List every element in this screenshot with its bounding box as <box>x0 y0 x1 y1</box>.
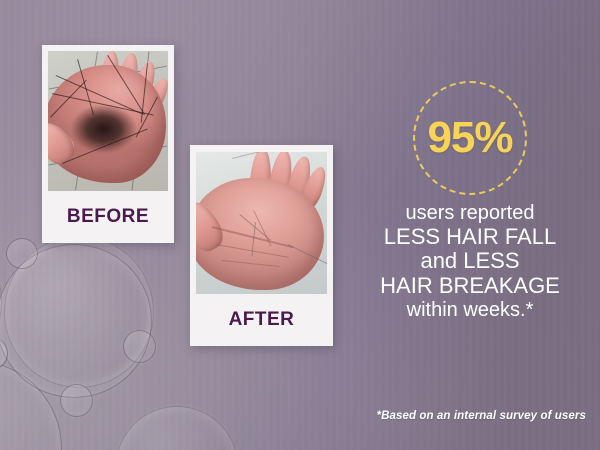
fallen-hair-mass <box>66 99 150 161</box>
claim-line-5: within weeks.* <box>345 299 595 322</box>
statistic-block: 95% users reported LESS HAIR FALL and LE… <box>345 78 595 322</box>
claim-text: users reported LESS HAIR FALL and LESS H… <box>345 202 595 322</box>
after-photo-card: AFTER <box>190 145 333 346</box>
before-photo <box>48 51 168 191</box>
before-caption: BEFORE <box>42 191 174 243</box>
footnote-disclaimer: *Based on an internal survey of users <box>377 410 587 422</box>
claim-line-2: LESS HAIR FALL <box>345 225 595 250</box>
percent-badge: 95% <box>410 78 530 198</box>
claim-line-3: and LESS <box>345 249 595 274</box>
claim-line-1: users reported <box>345 202 595 225</box>
promo-banner: BEFORE AFTER 95% users r <box>0 0 600 450</box>
before-photo-card: BEFORE <box>42 45 174 243</box>
claim-line-4: HAIR BREAKAGE <box>345 274 595 299</box>
after-caption: AFTER <box>190 294 333 346</box>
percent-value: 95% <box>410 78 530 198</box>
after-photo <box>196 152 327 294</box>
